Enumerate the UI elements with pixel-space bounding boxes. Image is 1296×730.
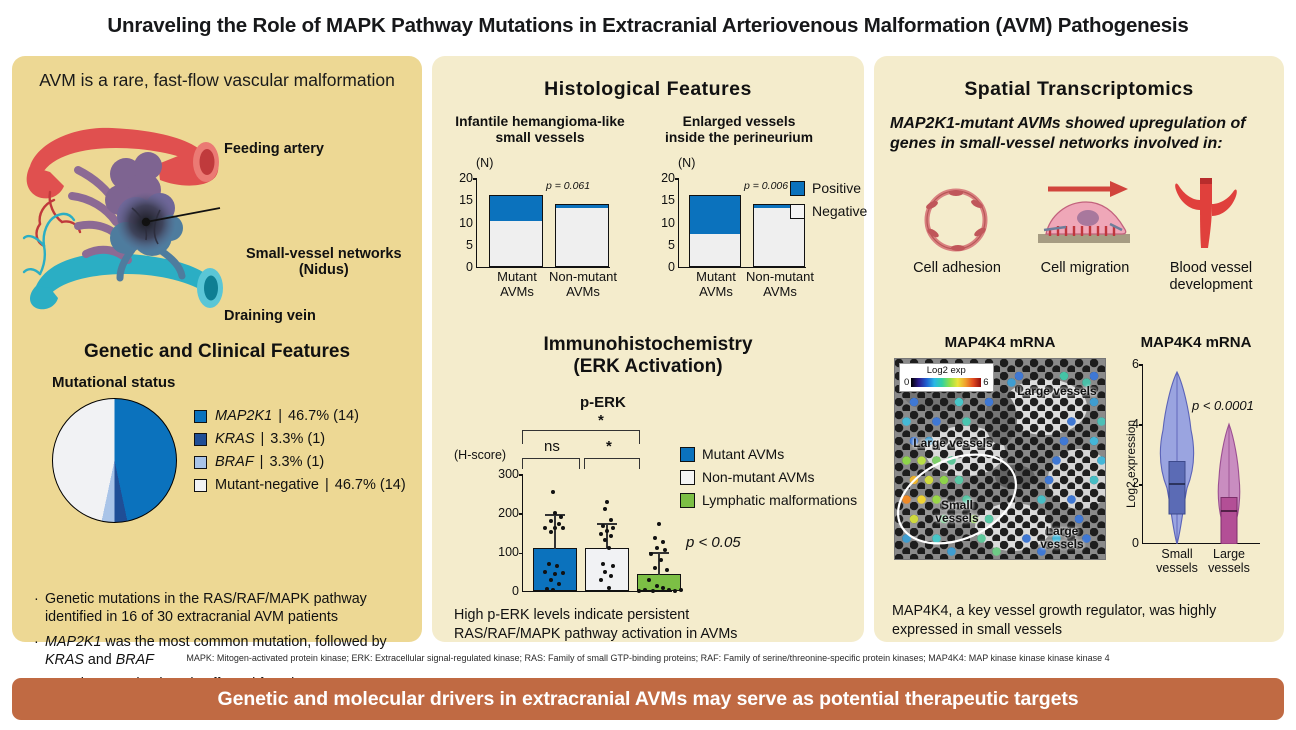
x-tick-label: Smallvessels	[1147, 543, 1207, 575]
lead-text: AVM is a rare, fast-flow vascular malfor…	[12, 70, 422, 91]
cell-migration-icon	[1032, 176, 1136, 256]
violin-pvalue: p < 0.0001	[1192, 398, 1254, 413]
list-item-text: MAP2K1 was the most common mutation, fol…	[45, 633, 414, 670]
perk-marker-label: p-ERK	[580, 394, 626, 411]
y-tick-label: 5	[466, 238, 477, 252]
violin-title: MAP4K4 mRNA	[1120, 334, 1272, 351]
significance-bracket-right	[584, 458, 640, 469]
legend-value: 3.3% (1)	[269, 454, 324, 470]
violin-shapes	[1143, 364, 1261, 544]
label-nidus-text: (Nidus)	[246, 262, 402, 278]
legend-gene-label: MAP2K1	[215, 408, 272, 424]
list-item: · Genetic mutations in the RAS/RAF/MAPK …	[34, 590, 414, 627]
bullet-dot-icon: ·	[34, 633, 45, 670]
list-item: · MAP2K1 was the most common mutation, f…	[34, 633, 414, 670]
legend-label: Non-mutant AVMs	[702, 469, 815, 485]
label-feeding-artery: Feeding artery	[224, 141, 324, 157]
table-row: Non-mutantAVMs	[555, 204, 609, 267]
error-bar-vertical	[658, 552, 660, 575]
legend-swatch-icon	[790, 181, 805, 196]
y-tick-label: 15	[459, 193, 477, 207]
cell-adhesion-label: Cell adhesion	[898, 260, 1016, 277]
panel-spatial-transcriptomics: Spatial Transcriptomics MAP2K1-mutant AV…	[874, 56, 1284, 642]
st-tag-large-vessels: Large vessels	[909, 437, 997, 450]
bar-segment-negative	[690, 234, 740, 266]
graphical-abstract: Unraveling the Role of MAPK Pathway Muta…	[0, 0, 1296, 730]
legend-label: Mutant AVMs	[702, 446, 784, 462]
y-tick-label: 10	[459, 216, 477, 230]
legend-value: 46.7% (14)	[288, 408, 359, 424]
bar-segment-positive	[490, 196, 542, 223]
y-tick-label: 15	[661, 193, 679, 207]
label-draining-vein: Draining vein	[224, 308, 316, 324]
significance-top: *	[598, 412, 604, 429]
legend-item-map2k1: MAP2K1 | 46.7% (14)	[194, 408, 406, 424]
legend-separator: |	[278, 408, 282, 424]
legend-gene-label: Mutant-negative	[215, 477, 319, 493]
chart1-caption: Infantile hemangioma-like small vessels	[446, 114, 634, 145]
legend-swatch-icon	[790, 204, 805, 219]
legend-gene-label: BRAF	[215, 454, 254, 470]
st-image-title: MAP4K4 mRNA	[894, 334, 1106, 351]
st-tag-large-vessels: Largevessels	[1031, 525, 1093, 550]
legend-item-braf: BRAF | 3.3% (1)	[194, 454, 406, 470]
legend-item-positive: Positive	[790, 180, 867, 196]
legend-label: Negative	[812, 203, 867, 219]
mutational-status-pie-chart	[52, 398, 177, 523]
pie-slices	[52, 398, 177, 523]
ihc-bar-mutant-avms	[533, 548, 577, 591]
y-tick-label: 0	[512, 584, 523, 598]
spatial-transcriptomics-caption: MAP4K4, a key vessel growth regulator, w…	[892, 602, 1274, 640]
chart1-caption-line2: small vessels	[446, 130, 634, 146]
violin-plot-area: 0 2 4 6 Smallvessels Largevessels	[1142, 364, 1260, 544]
legend-label: Positive	[812, 180, 861, 196]
cell-migration-label: Cell migration	[1024, 260, 1146, 277]
label-small-vessel-networks-text: Small-vessel networks	[246, 246, 402, 262]
ihc-caption-line1: High p-ERK levels indicate persistent	[454, 606, 737, 625]
ihc-legend: Mutant AVMs Non-mutant AVMs Lymphatic ma…	[680, 446, 857, 515]
list-item-text: Genetic mutations in the RAS/RAF/MAPK pa…	[45, 590, 414, 627]
legend-label: Lymphatic malformations	[702, 492, 857, 508]
bvd-line1: Blood vessel	[1170, 260, 1252, 276]
table-row: MutantAVMs	[689, 195, 741, 267]
abbreviations-footnote: MAPK: Mitogen-activated protein kinase; …	[0, 653, 1296, 663]
chart1-caption-line1: Infantile hemangioma-like	[446, 114, 634, 130]
significance-right: *	[606, 438, 612, 455]
legend-item-mutant-negative: Mutant-negative | 46.7% (14)	[194, 477, 406, 493]
bvd-line2: development	[1169, 277, 1252, 293]
significance-bracket-outer	[522, 430, 640, 444]
histology-legend: Positive Negative	[790, 180, 867, 226]
chart1-pvalue: p = 0.061	[546, 180, 590, 192]
legend-swatch-icon	[194, 479, 207, 492]
legend-value: 3.3% (1)	[270, 431, 325, 447]
ihc-y-unit: (H-score)	[454, 448, 506, 462]
legend-item-lymphatic-malformations: Lymphatic malformations	[680, 492, 857, 508]
spatial-transcriptomics-image: Log2 exp 0 6 Large vessels Large vessels…	[894, 358, 1106, 560]
colorbar-legend: Log2 exp 0 6	[899, 363, 994, 392]
st-tag-large-vessels: Large vessels	[1013, 385, 1101, 398]
ihc-plot-area: 0 100 200 300	[522, 474, 672, 592]
legend-item-mutant-avms: Mutant AVMs	[680, 446, 857, 462]
legend-item-non-mutant-avms: Non-mutant AVMs	[680, 469, 857, 485]
section-heading-genetic-clinical: Genetic and Clinical Features	[12, 341, 422, 363]
ihc-pvalue: p < 0.05	[686, 534, 741, 551]
pie-legend: MAP2K1 | 46.7% (14) KRAS | 3.3% (1) BRAF…	[194, 408, 406, 500]
panel-avm-overview: AVM is a rare, fast-flow vascular malfor…	[12, 56, 422, 642]
chart2-caption: Enlarged vessels inside the perineurium	[650, 114, 828, 145]
st-tag-small-vessels: Smallvessels	[929, 499, 985, 524]
legend-separator: |	[261, 431, 265, 447]
error-bar-cap	[597, 523, 617, 525]
y-tick-label: 0	[1132, 536, 1143, 550]
ihc-title-line1: Immunohistochemistry	[432, 334, 864, 356]
legend-gene-label: KRAS	[215, 431, 255, 447]
chart2-y-unit: (N)	[678, 156, 695, 170]
colorbar-scale: 0 6	[904, 377, 989, 388]
bullet-dot-icon: ·	[34, 590, 45, 627]
chart2-pvalue: p = 0.006	[744, 180, 788, 192]
colorbar-min: 0	[904, 377, 909, 388]
colorbar-title: Log2 exp	[904, 366, 989, 376]
colorbar-max: 6	[983, 377, 988, 388]
legend-swatch-icon	[680, 447, 695, 462]
panel-histology-ihc: Histological Features Infantile hemangio…	[432, 56, 864, 642]
legend-swatch-icon	[680, 470, 695, 485]
ihc-caption-line2: RAS/RAF/MAPK pathway activation in AVMs	[454, 625, 737, 644]
legend-item-kras: KRAS | 3.3% (1)	[194, 431, 406, 447]
legend-swatch-icon	[194, 433, 207, 446]
pie-chart-title: Mutational status	[52, 374, 175, 391]
legend-swatch-icon	[680, 493, 695, 508]
histological-features-title: Histological Features	[432, 78, 864, 101]
legend-swatch-icon	[194, 410, 207, 423]
blood-vessel-development-icon	[1170, 178, 1240, 254]
ihc-bar-non-mutant-avms	[585, 548, 629, 591]
x-tick-label: Largevessels	[1199, 543, 1259, 575]
colorbar-gradient	[911, 378, 981, 387]
ihc-caption: High p-ERK levels indicate persistent RA…	[454, 606, 737, 643]
error-bar-vertical	[554, 514, 556, 549]
conclusion-banner-text: Genetic and molecular drivers in extracr…	[218, 688, 1079, 711]
bar-segment-positive	[690, 196, 740, 236]
significance-ns: ns	[544, 438, 560, 455]
bar-segment-negative	[490, 221, 542, 266]
table-row: MutantAVMs	[489, 195, 543, 267]
avm-vessel-diagram	[20, 104, 270, 314]
legend-separator: |	[260, 454, 264, 470]
blood-vessel-development-label: Blood vessel development	[1152, 260, 1270, 293]
legend-swatch-icon	[194, 456, 207, 469]
legend-value: 46.7% (14)	[335, 477, 406, 493]
page-title: Unraveling the Role of MAPK Pathway Muta…	[0, 14, 1296, 38]
cell-adhesion-icon	[918, 186, 994, 254]
ihc-title-line2: (ERK Activation)	[432, 356, 864, 378]
chart1-y-unit: (N)	[476, 156, 493, 170]
bar-segment-negative	[556, 208, 608, 267]
label-small-vessel-networks: Small-vessel networks (Nidus)	[246, 246, 402, 278]
y-tick-label: 10	[661, 216, 679, 230]
spatial-transcriptomics-subtitle: MAP2K1-mutant AVMs showed upregulation o…	[890, 114, 1275, 155]
chart2-caption-line2: inside the perineurium	[650, 130, 828, 146]
legend-item-negative: Negative	[790, 203, 867, 219]
significance-bracket-left	[522, 458, 580, 469]
spatial-transcriptomics-title: Spatial Transcriptomics	[874, 78, 1284, 101]
legend-separator: |	[325, 477, 329, 493]
x-tick-label: Non-mutantAVMs	[537, 266, 629, 299]
x-tick-label: Non-mutantAVMs	[734, 266, 826, 299]
y-tick-label: 5	[668, 238, 679, 252]
violin-y-axis-label: Log2 expression	[1124, 420, 1138, 508]
chart2-caption-line1: Enlarged vessels	[650, 114, 828, 130]
conclusion-banner: Genetic and molecular drivers in extracr…	[12, 678, 1284, 720]
